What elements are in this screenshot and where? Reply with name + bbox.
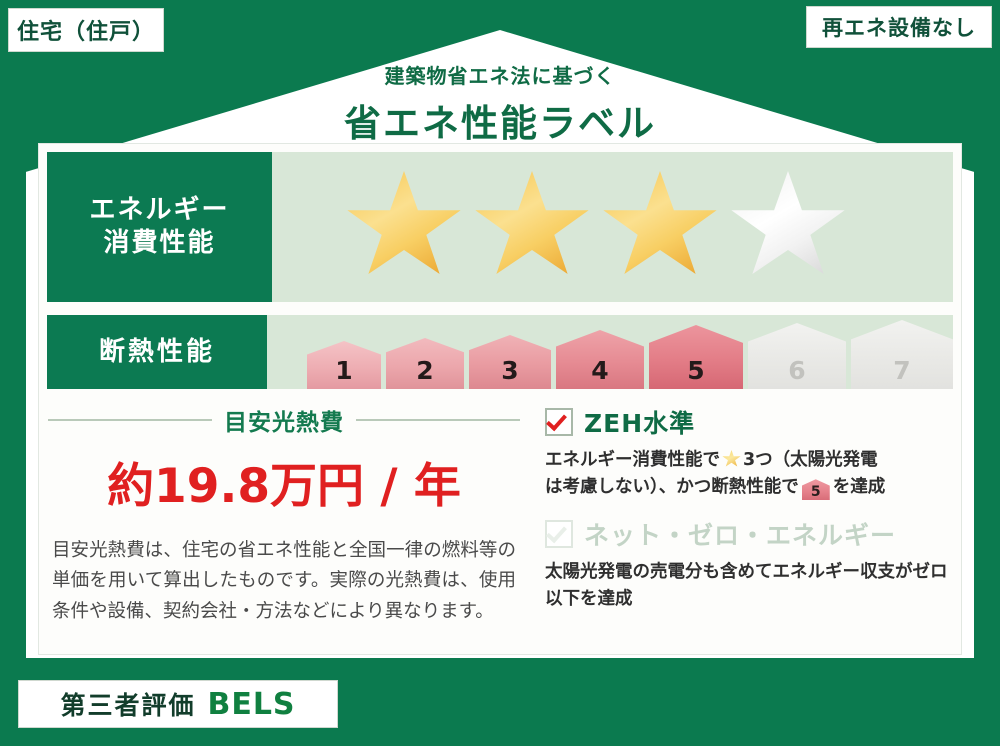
checkbox-checked-icon <box>545 408 573 436</box>
criteria-zeh-desc-star-count: 3つ（太陽光発電 <box>743 450 878 470</box>
insulation-level-6-number: 6 <box>788 356 805 385</box>
criteria-zeh-description: エネルギー消費性能で3つ（太陽光発電は考慮しない）、かつ断熱性能で5を達成 <box>545 447 955 502</box>
checkbox-unchecked-icon <box>545 520 573 548</box>
label-title-block: 建築物省エネ法に基づく 省エネ性能ラベル <box>0 60 1000 147</box>
star-icon-3 <box>601 171 719 283</box>
check-icon <box>546 410 567 431</box>
energy-label-line1: エネルギー <box>89 194 229 227</box>
insulation-performance-row: 断熱性能 1 2 3 4 5 6 <box>47 315 953 389</box>
criteria-net-zero-energy: ネット・ゼロ・エネルギー 太陽光発電の売電分も含めてエネルギー収支がゼロ以下を達… <box>545 516 955 614</box>
insulation-level-2-number: 2 <box>416 356 433 385</box>
criteria-block: ZEH水準 エネルギー消費性能で3つ（太陽光発電は考慮しない）、かつ断熱性能で5… <box>545 404 955 627</box>
renewable-equipment-badge: 再エネ設備なし <box>806 6 992 48</box>
check-icon-faded <box>546 521 567 542</box>
heading-rule-right <box>356 419 520 421</box>
energy-label-line2: 消費性能 <box>103 227 215 260</box>
criteria-zeh-title: ZEH水準 <box>584 404 695 440</box>
insulation-level-4: 4 <box>556 330 644 389</box>
star-icon-2 <box>473 171 591 283</box>
bels-jp-label: 第三者評価 <box>60 686 195 722</box>
criteria-nze-description: 太陽光発電の売電分も含めてエネルギー収支がゼロ以下を達成 <box>545 559 955 614</box>
bels-certification-badge: 第三者評価 BELS <box>18 680 338 728</box>
insulation-level-scale: 1 2 3 4 5 6 7 <box>267 315 953 389</box>
insulation-level-7-number: 7 <box>893 356 910 385</box>
criteria-zeh-desc-part1: エネルギー消費性能で <box>545 450 720 470</box>
star-icon-1 <box>345 171 463 283</box>
insulation-level-3-number: 3 <box>501 356 518 385</box>
utility-cost-heading: 目安光熱費 <box>224 403 344 437</box>
energy-star-rating <box>272 152 953 302</box>
insulation-level-4-number: 4 <box>591 356 608 385</box>
criteria-nze-title-row: ネット・ゼロ・エネルギー <box>545 516 955 552</box>
energy-performance-label: エネルギー 消費性能 <box>47 152 272 302</box>
utility-cost-block: 目安光熱費 約19.8万円 / 年 目安光熱費は、住宅の省エネ性能と全国一律の燃… <box>48 403 520 627</box>
utility-cost-heading-row: 目安光熱費 <box>48 403 520 437</box>
energy-performance-label: 住宅（住戸） 再エネ設備なし 建築物省エネ法に基づく 省エネ性能ラベル エネルギ… <box>0 0 1000 746</box>
building-type-badge: 住宅（住戸） <box>8 8 164 52</box>
criteria-zeh-desc-part2: は考慮しない）、かつ断熱性能で <box>545 477 799 497</box>
insulation-level-7: 7 <box>851 320 953 389</box>
star-icon-4 <box>729 171 847 283</box>
energy-performance-row: エネルギー 消費性能 <box>47 152 953 302</box>
utility-cost-note: 目安光熱費は、住宅の省エネ性能と全国一律の燃料等の単価を用いて算出したものです。… <box>48 536 520 627</box>
criteria-zeh-desc-part3: を達成 <box>833 477 886 497</box>
insulation-level-3: 3 <box>469 335 551 389</box>
insulation-level-1: 1 <box>307 341 381 389</box>
house-inline-icon: 5 <box>802 479 830 500</box>
star-inline-icon <box>722 450 741 468</box>
insulation-performance-label: 断熱性能 <box>47 315 267 389</box>
title-subtitle: 建築物省エネ法に基づく <box>0 60 1000 89</box>
page-title: 省エネ性能ラベル <box>0 93 1000 147</box>
criteria-zeh-title-row: ZEH水準 <box>545 404 955 440</box>
criteria-nze-title: ネット・ゼロ・エネルギー <box>584 516 896 552</box>
heading-rule-left <box>48 419 212 421</box>
insulation-level-5: 5 <box>649 325 743 389</box>
utility-cost-value: 約19.8万円 / 年 <box>48 447 520 516</box>
insulation-level-6: 6 <box>748 323 846 389</box>
criteria-zeh: ZEH水準 エネルギー消費性能で3つ（太陽光発電は考慮しない）、かつ断熱性能で5… <box>545 404 955 502</box>
bels-en-label: BELS <box>207 687 295 722</box>
insulation-level-1-number: 1 <box>335 356 352 385</box>
insulation-level-5-number: 5 <box>687 356 704 385</box>
insulation-level-2: 2 <box>386 338 464 389</box>
